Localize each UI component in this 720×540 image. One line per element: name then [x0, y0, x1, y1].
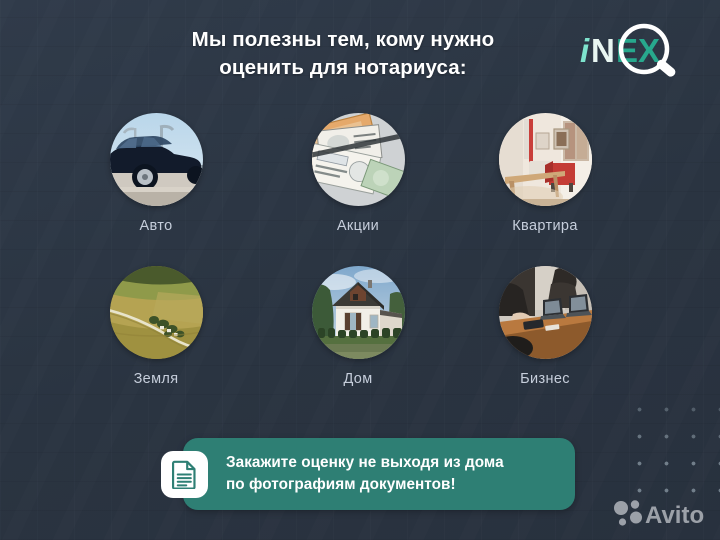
- avito-dots-icon: [614, 500, 642, 525]
- business-photo: [499, 266, 592, 359]
- card-label: Авто: [86, 218, 226, 234]
- card-label: Дом: [288, 371, 428, 387]
- card-label: Земля: [86, 371, 226, 387]
- card-auto[interactable]: Авто: [86, 113, 226, 234]
- avito-watermark: Avito: [612, 497, 716, 531]
- stocks-photo: [312, 113, 405, 206]
- banner-text: Закажите оценку не выходя из дома по фот…: [226, 452, 504, 495]
- apartment-photo: [499, 113, 592, 206]
- page-title-line1: Мы полезны тем, кому нужно: [118, 26, 568, 54]
- card-business[interactable]: Бизнес: [475, 266, 615, 387]
- card-house[interactable]: Дом: [288, 266, 428, 387]
- logo-letter-i: i: [580, 32, 590, 69]
- order-banner[interactable]: Закажите оценку не выходя из дома по фот…: [183, 438, 575, 510]
- card-label: Бизнес: [475, 371, 615, 387]
- card-apartment[interactable]: Квартира: [475, 113, 615, 234]
- car-photo: [110, 113, 203, 206]
- inex-logo[interactable]: i N EX: [578, 22, 702, 78]
- card-stocks[interactable]: Акции: [288, 113, 428, 234]
- card-label: Квартира: [475, 218, 615, 234]
- card-label: Акции: [288, 218, 428, 234]
- land-photo: [110, 266, 203, 359]
- house-photo: [312, 266, 405, 359]
- banner-line2: по фотографиям документов!: [226, 474, 504, 496]
- logo-letter-n: N: [591, 32, 615, 69]
- document-icon: [161, 451, 208, 498]
- avito-wordmark-text: Avito: [645, 502, 704, 529]
- card-land[interactable]: Земля: [86, 266, 226, 387]
- page-title-line2: оценить для нотариуса:: [118, 54, 568, 82]
- page-title: Мы полезны тем, кому нужно оценить для н…: [118, 26, 568, 83]
- banner-line1: Закажите оценку не выходя из дома: [226, 452, 504, 474]
- dot-grid-decoration: [616, 388, 720, 514]
